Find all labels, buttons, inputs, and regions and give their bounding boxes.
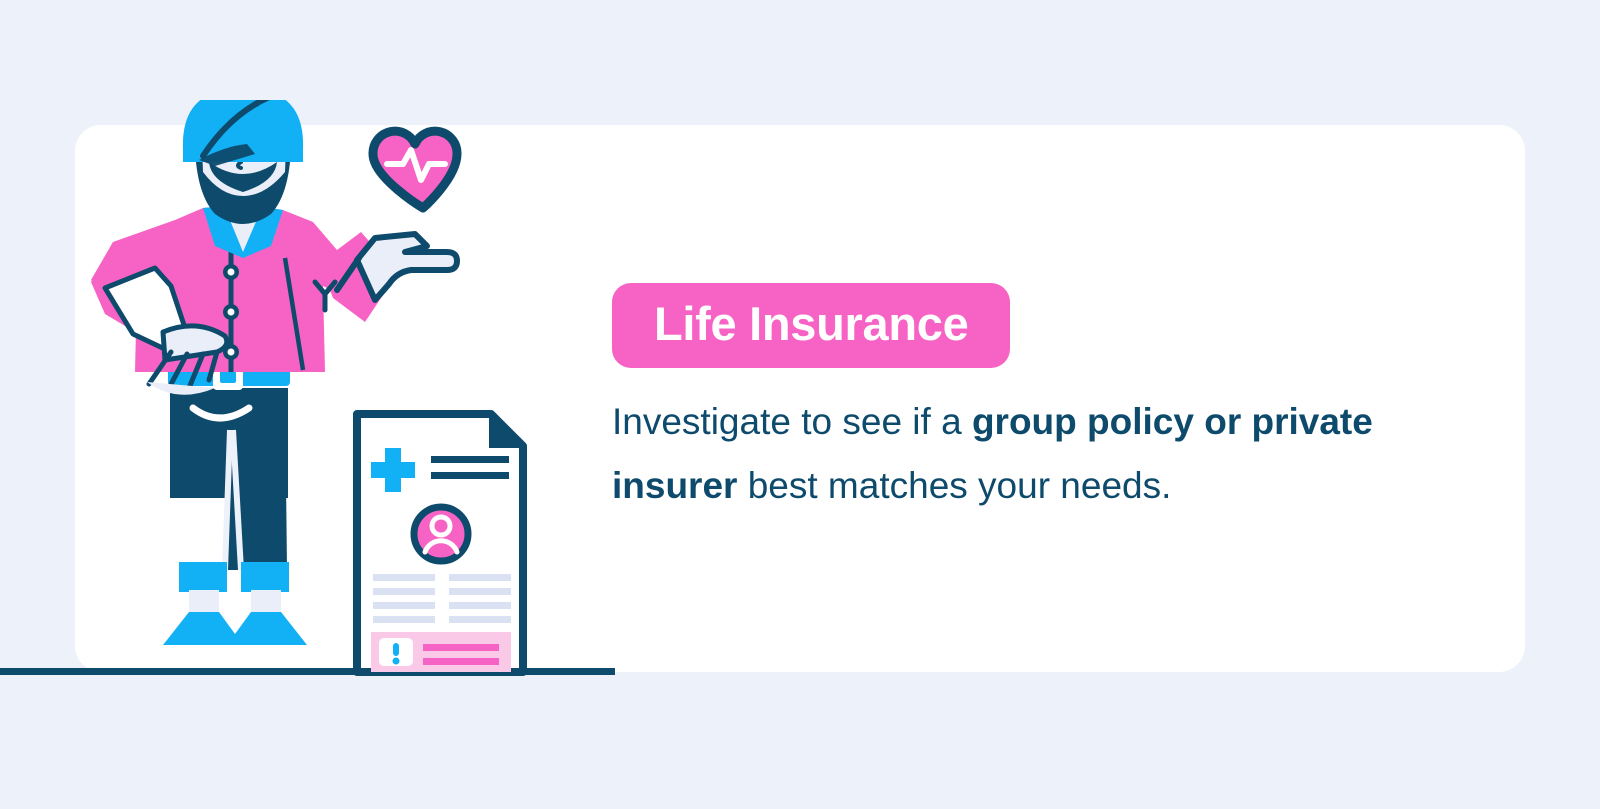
- document-alert-box: [371, 632, 511, 672]
- document-header-bar-1: [431, 456, 509, 463]
- illustration-life-insurance: [75, 100, 615, 680]
- turban: [183, 100, 303, 166]
- insurance-document: [357, 412, 525, 672]
- heart-pulse-icon: [373, 131, 457, 208]
- page-root: Life Insurance Investigate to see if a g…: [0, 0, 1600, 809]
- shoes: [163, 612, 307, 645]
- trousers-group: [170, 388, 288, 570]
- document-avatar: [414, 507, 468, 561]
- body-description: Investigate to see if a group policy or …: [612, 390, 1412, 517]
- body-text-part2: best matches your needs.: [737, 465, 1171, 506]
- badge-life-insurance: Life Insurance: [612, 283, 1010, 368]
- text-column: Life Insurance Investigate to see if a g…: [612, 283, 1472, 518]
- body-text-part1: Investigate to see if a: [612, 401, 972, 442]
- document-header-bar-2: [431, 472, 509, 479]
